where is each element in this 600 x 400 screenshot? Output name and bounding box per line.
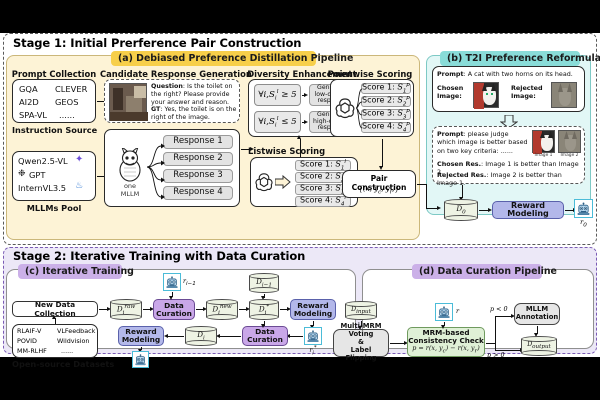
arrow-tip (437, 206, 441, 210)
arrow-d0-to-rm (479, 210, 488, 211)
qa-gt-label: GT (151, 106, 160, 113)
dataset-d-prev-cylinder: Di−1 (249, 273, 279, 293)
arrow-di-to-rm2 (168, 336, 184, 337)
dataset-d-input-cylinder: Dinput (345, 301, 377, 320)
dataset-item-0: RLAIF-V (17, 327, 41, 335)
arrow-tip (297, 135, 301, 139)
qa-example-box: Question: Is the toilet on the right? Pl… (104, 79, 240, 123)
consistency-formula: p = r(x, yc) − r(x, yr) (412, 345, 479, 354)
t2i-prompt2-label: Prompt (437, 130, 464, 138)
reward-model-r-label-d: r (456, 307, 459, 315)
t2i-prompt-line: Prompt: A cat with two horns on its head… (437, 70, 583, 78)
arrow-tip (261, 324, 265, 328)
condition-p-positive: p > 0 (487, 351, 505, 359)
arrow-rm-to-r0 (565, 210, 573, 211)
dataset-d-prev-label: Di−1 (249, 273, 279, 293)
stage1-title: Stage 1: Initial Prerference Pair Constr… (13, 36, 301, 50)
open-source-datasets-box: RLAIF-V VLFeedback POVID Wildvision MM-R… (12, 324, 98, 358)
arrow-tip (304, 120, 308, 124)
t2i-prompt2-line: Prompt: please judge which image is bett… (437, 130, 529, 155)
dataset-item-3: Wildvision (57, 337, 89, 345)
dataset-d-output-label: Doutput (521, 336, 557, 356)
arrow-branch-up (495, 316, 496, 344)
gpt-logo-icon (334, 97, 356, 119)
response-fanout-arrows (145, 134, 165, 204)
panel-c-badge: (c) Iterative Training (18, 264, 122, 279)
response-3: Response 3 (163, 169, 233, 183)
image-2-thumb (558, 130, 581, 153)
reward-model-r-icon (435, 303, 453, 321)
arrow-pointwise-to-pair (382, 139, 383, 167)
qa-gt-text: : Yes, the toilet is on the right of the… (151, 106, 236, 121)
dataset-item-4: MM-RLHF (17, 347, 47, 355)
arrow-dstar-to-rm (280, 309, 287, 310)
arrow-collection-to-draw (99, 309, 107, 310)
arrow-to-mllm-annotation (495, 316, 511, 317)
reward-model-r-star-icon (304, 327, 322, 345)
dataset-d-star-label: Di* (249, 299, 279, 320)
instruction-source-item-3: GEOS (55, 97, 78, 107)
instruction-source-item-0: GQA (19, 84, 38, 94)
reward-modeling-box-2: RewardModeling (118, 326, 164, 346)
instruction-source-caption: Instruction Source (12, 125, 96, 135)
t2i-prompt-text: : A cat with two horns on its head. (464, 70, 573, 78)
toilet-photo (109, 83, 147, 121)
multi-mrm-voting-box: Multi-MRM Voting & Label Flipping (333, 329, 389, 357)
pointwise-score-1: Score 1: S1p (361, 83, 411, 94)
col-head-listwise-scoring: Listwise Scoring (248, 146, 336, 156)
arrow-curation-to-dnew (196, 309, 203, 310)
dataset-d-raw-cylinder: Diraw (110, 299, 142, 320)
arrow-listwise-to-diversity (300, 139, 301, 157)
arrow-tip (169, 296, 173, 300)
mllm-annotation-box: MLLM Annotation (514, 303, 560, 325)
arrow-voting-to-consistency (390, 343, 404, 344)
chosen-res-label: Chosen Res. (437, 160, 481, 168)
voting-line1: Multi-MRM Voting (334, 323, 388, 339)
panel-b-badge: (b) T2I Preference Reformulation (440, 51, 580, 66)
reward-modeling-box-1: RewardModeling (290, 299, 336, 320)
qwen-logo-icon: ✦ (75, 154, 83, 165)
image-1-thumb (532, 130, 555, 153)
t2i-reformulated-box: Prompt: please judge which image is bett… (432, 126, 585, 184)
response-4: Response 4 (163, 186, 233, 200)
voting-line3: Label Flipping (334, 347, 388, 363)
mllms-pool-box: Qwen2.5-VL ✦ GPT ❉ InternVL3.5 ♨ ...... (12, 151, 96, 201)
dataset-d-input-label: Dinput (345, 301, 377, 320)
open-source-datasets-caption: Open-source Datasets (12, 359, 98, 369)
arrow-pair-down (426, 184, 427, 208)
pointwise-score-3: Score 3: S3p (361, 109, 411, 120)
arrow-rstar-to-curation2 (290, 336, 303, 337)
arrow-tip (304, 93, 308, 97)
data-curation-box-1: DataCuration (153, 299, 195, 320)
openai-logo-icon: ❉ (18, 169, 26, 179)
instruction-source-box: GQA CLEVER AI2D GEOS SPA-VL ...... (12, 79, 96, 123)
responses-box: one MLLM Response 1 Response 2 Response … (104, 129, 240, 207)
listwise-score-1: Score 1: S1l (295, 160, 351, 171)
rejected-res-label: Rejected Res. (437, 171, 486, 179)
pointwise-score-4: Score 4: S4p (361, 122, 411, 133)
dataset-d-new-label: Dinew (206, 299, 238, 320)
reward-model-r-prev-icon (163, 273, 181, 291)
mllms-pool-item-2: InternVL3.5 (18, 183, 66, 193)
mrm-consistency-check-box: MRM-based Consistency Check p = r(x, yc)… (407, 327, 485, 357)
listwise-score-4: Score 4: S4l (295, 196, 351, 207)
mllms-pool-item-3: ...... (43, 193, 59, 203)
dataset-d-raw-label: Diraw (110, 299, 142, 320)
mllm-annotation-line2: Annotation (516, 314, 559, 322)
arrow-tip (250, 147, 254, 151)
arrow-draw-to-curation (143, 309, 150, 310)
panel-a-badge: (a) Debiased Preference Distillation Pip… (111, 51, 316, 66)
arrow-dnew-to-dstar (239, 309, 246, 310)
qa-gt: GT: Yes, the toilet is on the right of t… (151, 106, 237, 122)
arrow-tip (441, 325, 445, 329)
pointwise-fanout-arrows (355, 82, 363, 134)
diversity-condition-low: ∀i,Sil ≤ 5 (254, 111, 301, 133)
dataset-di-label: Di (185, 326, 217, 346)
reward-model-r-star-label: ri* (304, 345, 322, 356)
figure-canvas: Stage 1: Initial Prerference Pair Constr… (0, 33, 600, 357)
arrow-responses-to-listwise (241, 149, 250, 150)
arrow-tip (52, 315, 56, 319)
instruction-source-item-1: CLEVER (55, 84, 87, 94)
response-2: Response 2 (163, 152, 233, 166)
t2i-prompt-label: Prompt (437, 70, 464, 78)
fat-arrow-icon (275, 174, 291, 193)
reward-model-ri-label: ri (151, 356, 156, 365)
chosen-image-label: Chosen Image: (437, 85, 471, 100)
instruction-source-item-2: AI2D (19, 97, 39, 107)
dataset-d0-label: D0 (444, 199, 478, 221)
reward-model-r0-icon (574, 199, 593, 218)
stage2-title: Stage 2: Iterative Training with Data Cu… (13, 249, 305, 263)
instruction-source-item-5: ...... (59, 110, 75, 120)
pointwise-score-2: Score 2: S2p (361, 96, 411, 107)
arrow-tip (164, 334, 168, 338)
image-2-caption: Image 2 (557, 153, 582, 158)
dataset-d-star-cylinder: Di* (249, 299, 279, 320)
rejected-image-label: Rejected Image: (511, 85, 547, 100)
dataset-d0-cylinder: D0 (444, 199, 478, 221)
pointwise-scoring-box: Score 1: S1p Score 2: S2p Score 3: S3p S… (330, 79, 414, 137)
col-head-prompt-collection: Prompt Collection (10, 69, 98, 79)
data-curation-box-2: DataCuration (242, 326, 288, 346)
dataset-item-2: POVID (17, 337, 37, 345)
panel-d-badge: (d) Data Curation Pipeline (412, 264, 542, 279)
image-1-caption: Image 1 (531, 153, 556, 158)
reward-modeling-stage1: Reward Modeling (492, 201, 564, 219)
rejected-res-line: Rejected Res.: Image 2 is better than Im… (437, 171, 583, 188)
qa-question-label: Question (151, 83, 183, 90)
dataset-item-1: VLFeedback (57, 327, 95, 335)
instruction-source-item-4: SPA-VL (19, 110, 47, 120)
mllms-pool-caption: MLLMs Pool (12, 203, 96, 213)
response-1: Response 1 (163, 135, 233, 149)
gpt-logo-icon-2 (254, 172, 274, 192)
reward-model-r-prev-label: ri−1 (183, 278, 196, 287)
arrow-to-d0 (426, 208, 437, 209)
reward-model-ri-icon (132, 351, 149, 368)
qa-question: Question: Is the toilet on the right? Pl… (151, 83, 237, 107)
pair-construction-box: Pair Construction {(x, yc, yr)} (342, 170, 416, 198)
diversity-condition-high: ∀i,Sil ≥ 5 (254, 84, 301, 106)
dataset-item-5: ...... (61, 347, 73, 355)
chosen-cat-image (473, 82, 499, 108)
internvl-logo-icon: ♨ (75, 181, 83, 191)
arrow-curation2-to-di (220, 336, 241, 337)
dataset-d-output-cylinder: Doutput (521, 336, 557, 356)
reward-model-r0-label: r0 (574, 218, 593, 228)
mllm-llama-icon (115, 148, 145, 182)
dataset-di-cylinder: Di (185, 326, 217, 346)
pair-construction-formula: {(x, yc, yr)} (343, 185, 415, 195)
condition-p-negative: p < 0 (490, 305, 508, 313)
mllms-pool-item-1: GPT (29, 170, 46, 180)
col-head-candidate-response-generation: Candidate Response Generation (100, 69, 242, 79)
col-head-pointwise-scoring: Pointwise Scoring (322, 69, 418, 79)
rejected-cat-image (551, 82, 577, 108)
dataset-d-new-cylinder: Dinew (206, 299, 238, 320)
mllms-pool-item-0: Qwen2.5-VL (18, 156, 68, 166)
t2i-prompt-box: Prompt: A cat with two horns on its head… (432, 66, 585, 112)
